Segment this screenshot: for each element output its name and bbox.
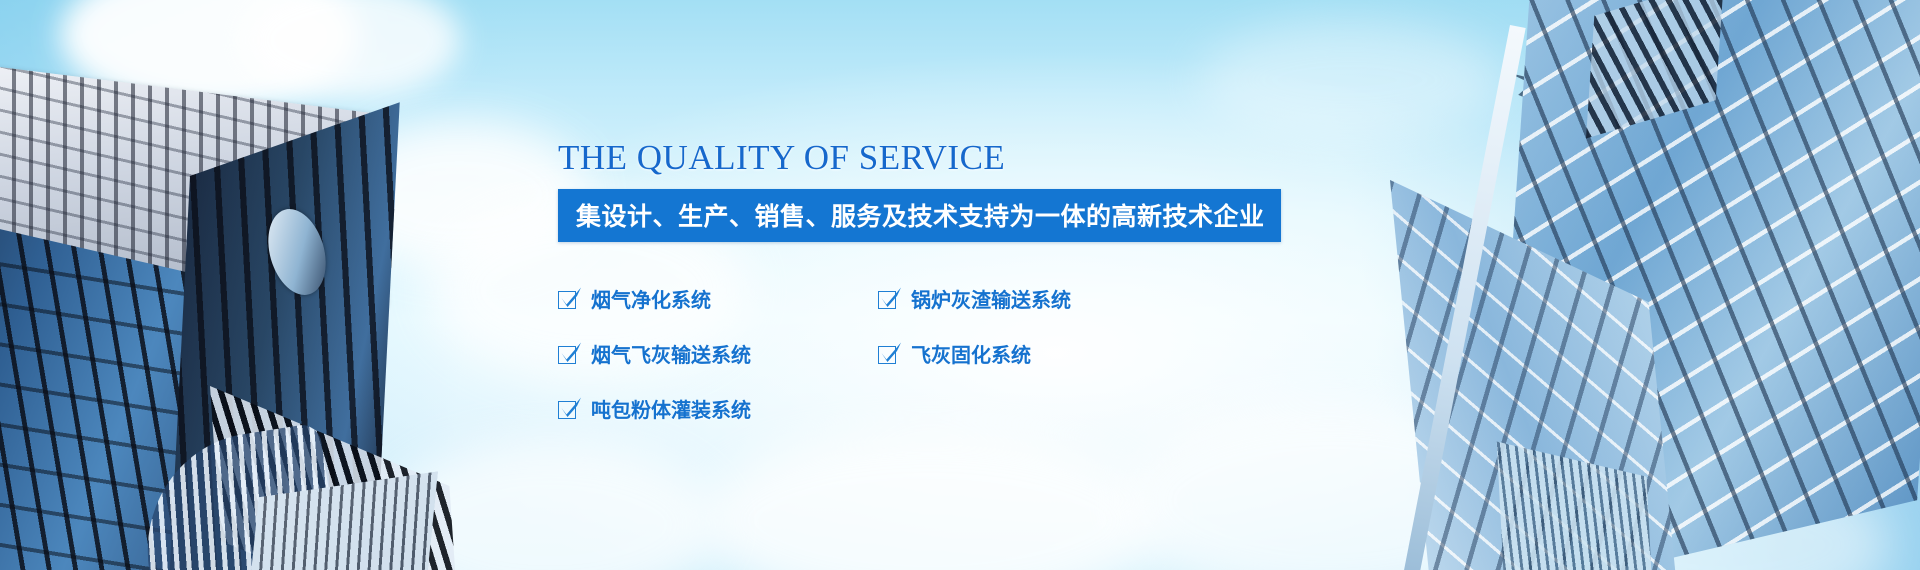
checkbox-checked-icon <box>558 344 578 364</box>
left-skyscraper-image <box>0 56 430 570</box>
feature-label: 锅炉灰渣输送系统 <box>911 284 1071 313</box>
cloud <box>700 430 1160 570</box>
banner-content: THE QUALITY OF SERVICE 集设计、生产、销售、服务及技术支持… <box>558 140 1418 449</box>
feature-item[interactable]: 烟气净化系统 <box>558 284 878 313</box>
feature-label: 飞灰固化系统 <box>911 339 1031 368</box>
feature-item[interactable]: 烟气飞灰输送系统 <box>558 339 878 368</box>
feature-label: 烟气飞灰输送系统 <box>591 339 751 368</box>
checkbox-checked-icon <box>558 399 578 419</box>
feature-item[interactable]: 吨包粉体灌装系统 <box>558 394 878 423</box>
right-tower-image <box>1390 0 1920 570</box>
feature-item[interactable]: 锅炉灰渣输送系统 <box>878 284 1198 313</box>
feature-list: 烟气净化系统 锅炉灰渣输送系统 烟气飞灰输送系统 <box>558 284 1258 449</box>
banner-headline: THE QUALITY OF SERVICE <box>558 140 1418 175</box>
checkbox-checked-icon <box>878 289 898 309</box>
checkbox-checked-icon <box>558 289 578 309</box>
checkbox-checked-icon <box>878 344 898 364</box>
hero-banner: THE QUALITY OF SERVICE 集设计、生产、销售、服务及技术支持… <box>0 0 1920 570</box>
feature-item[interactable]: 飞灰固化系统 <box>878 339 1198 368</box>
feature-label: 吨包粉体灌装系统 <box>591 394 751 423</box>
feature-label: 烟气净化系统 <box>591 284 711 313</box>
banner-subtitle-bar: 集设计、生产、销售、服务及技术支持为一体的高新技术企业 <box>558 189 1281 242</box>
